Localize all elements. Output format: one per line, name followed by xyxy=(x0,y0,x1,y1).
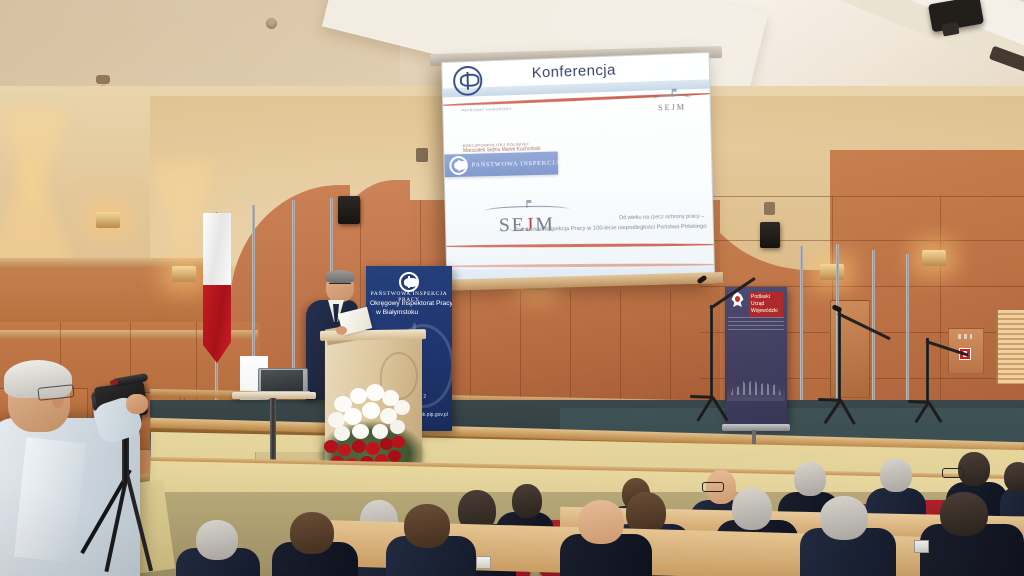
speaker-hair xyxy=(325,270,355,283)
panel-seam xyxy=(520,290,521,400)
white-flower xyxy=(390,420,405,434)
audience-head xyxy=(404,504,450,548)
banner-base xyxy=(722,424,790,431)
pip-banner-box: PAŃSTWOWA INSPEKCJA PRACY xyxy=(444,151,558,177)
sejm-wordmark: SEJM xyxy=(485,213,570,237)
wall-sconce xyxy=(820,264,844,280)
white-flower xyxy=(362,402,380,419)
panel-labels xyxy=(958,334,972,339)
pip-logo-icon xyxy=(399,272,419,292)
audience-head xyxy=(578,500,624,544)
wall-sconce xyxy=(922,250,946,266)
panel-seam xyxy=(700,196,1024,197)
wall-speaker xyxy=(760,222,780,248)
sejm-flag xyxy=(526,200,531,203)
red-flower xyxy=(392,436,405,448)
slide-footer-line-1: Od wieku na rzecz ochrony pracy – xyxy=(619,214,705,222)
laptop-display xyxy=(261,370,303,391)
banner-support-pole xyxy=(752,430,756,444)
audience-head xyxy=(732,488,772,530)
speaker-glasses-icon xyxy=(329,283,351,288)
shirt-fold xyxy=(14,437,86,563)
wall-fixture xyxy=(416,148,428,162)
mic-pole xyxy=(838,310,841,400)
wall-sconce xyxy=(96,212,120,228)
projection-screen: Konferencja SEJM PATRONAT HONOROWY SEJM … xyxy=(441,52,715,287)
uw-title-1: Podlaski Urząd xyxy=(751,294,770,307)
pip-logo-icon xyxy=(449,156,468,175)
name-card xyxy=(476,556,491,569)
wall-fixture xyxy=(764,202,775,215)
red-flower xyxy=(338,444,351,456)
audience-head xyxy=(794,462,826,496)
red-flower xyxy=(366,442,380,455)
panel-seam xyxy=(470,290,471,400)
red-flower xyxy=(352,440,366,453)
audience-head xyxy=(880,458,912,492)
speaker-hand xyxy=(336,326,347,335)
voivodeship-banner-title: Podlaski Urząd Wojewódzki xyxy=(749,292,783,317)
sejm-logo-icon: SEJM xyxy=(652,94,691,112)
cameraman-hand xyxy=(126,394,148,414)
audience-head xyxy=(290,512,334,554)
mic-pole xyxy=(926,338,929,402)
sconce-light-cone xyxy=(0,150,76,270)
panel-seam xyxy=(620,290,621,400)
slide-accent-line xyxy=(442,243,714,248)
voivodeship-rollup-banner: Podlaski Urząd Wojewódzki xyxy=(725,287,787,427)
white-flower xyxy=(350,388,367,404)
sejm-wordmark-small: SEJM xyxy=(653,102,692,112)
conference-photo: Konferencja SEJM PATRONAT HONOROWY SEJM … xyxy=(0,0,1024,576)
audience-head xyxy=(1004,462,1024,492)
audience-head xyxy=(940,492,988,536)
pip-banner-unit-line-2: w Białymstoku xyxy=(376,309,452,316)
pip-org-name: PAŃSTWOWA INSPEKCJA PRACY xyxy=(472,159,589,169)
audience-glasses-icon xyxy=(702,482,724,492)
window-with-blinds xyxy=(996,310,1024,384)
patronage-label: PATRONAT HONOROWY xyxy=(443,106,531,113)
ceiling-fixture xyxy=(96,75,110,84)
uw-title-2: Wojewódzki xyxy=(751,308,778,314)
polish-flag xyxy=(203,213,231,363)
pip-banner-unit-line-1: Okręgowy Inspektorat Pracy xyxy=(370,300,452,307)
audience-head xyxy=(820,496,868,540)
audience-glasses-icon xyxy=(942,468,964,478)
panel-seam xyxy=(940,196,941,400)
presentation-slide: Konferencja SEJM PATRONAT HONOROWY SEJM … xyxy=(442,53,714,286)
white-flower xyxy=(372,424,388,439)
white-flower xyxy=(334,426,350,441)
mic-pole xyxy=(710,305,713,397)
wall-speaker xyxy=(338,196,360,224)
panel-seam xyxy=(570,290,571,400)
wall-sconce xyxy=(172,266,196,282)
audience-head xyxy=(512,484,542,518)
red-flower xyxy=(324,440,338,453)
panel-seam xyxy=(700,240,1024,241)
red-flower xyxy=(388,450,401,462)
white-flower xyxy=(344,408,362,425)
banner-text-bars xyxy=(728,317,784,331)
sejm-flag xyxy=(672,89,677,92)
cityscape-illustration xyxy=(727,361,785,401)
red-flower xyxy=(380,438,393,450)
audience-head xyxy=(196,520,238,560)
panel-seam xyxy=(670,290,671,400)
name-card xyxy=(914,540,929,553)
ceiling-mount xyxy=(266,18,277,29)
white-flower xyxy=(352,424,369,439)
